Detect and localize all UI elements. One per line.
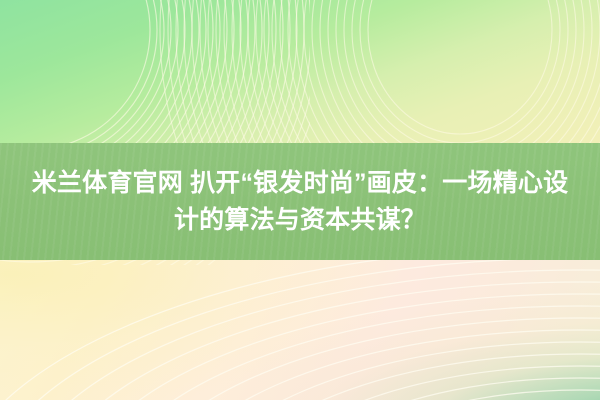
bottom-right-teal-glow xyxy=(0,260,600,400)
headline-line-2: 计的算法与资本共谋？ xyxy=(174,206,426,234)
headline-line-1: 米兰体育官网 扒开“银发时尚”画皮：一场精心设 xyxy=(32,169,569,197)
promo-banner: 米兰体育官网 扒开“银发时尚”画皮：一场精心设计的算法与资本共谋？ xyxy=(0,0,600,400)
headline-band: 米兰体育官网 扒开“银发时尚”画皮：一场精心设计的算法与资本共谋？ xyxy=(0,143,600,260)
page-title: 米兰体育官网 扒开“银发时尚”画皮：一场精心设计的算法与资本共谋？ xyxy=(4,165,596,239)
top-gradient-background xyxy=(0,0,600,143)
